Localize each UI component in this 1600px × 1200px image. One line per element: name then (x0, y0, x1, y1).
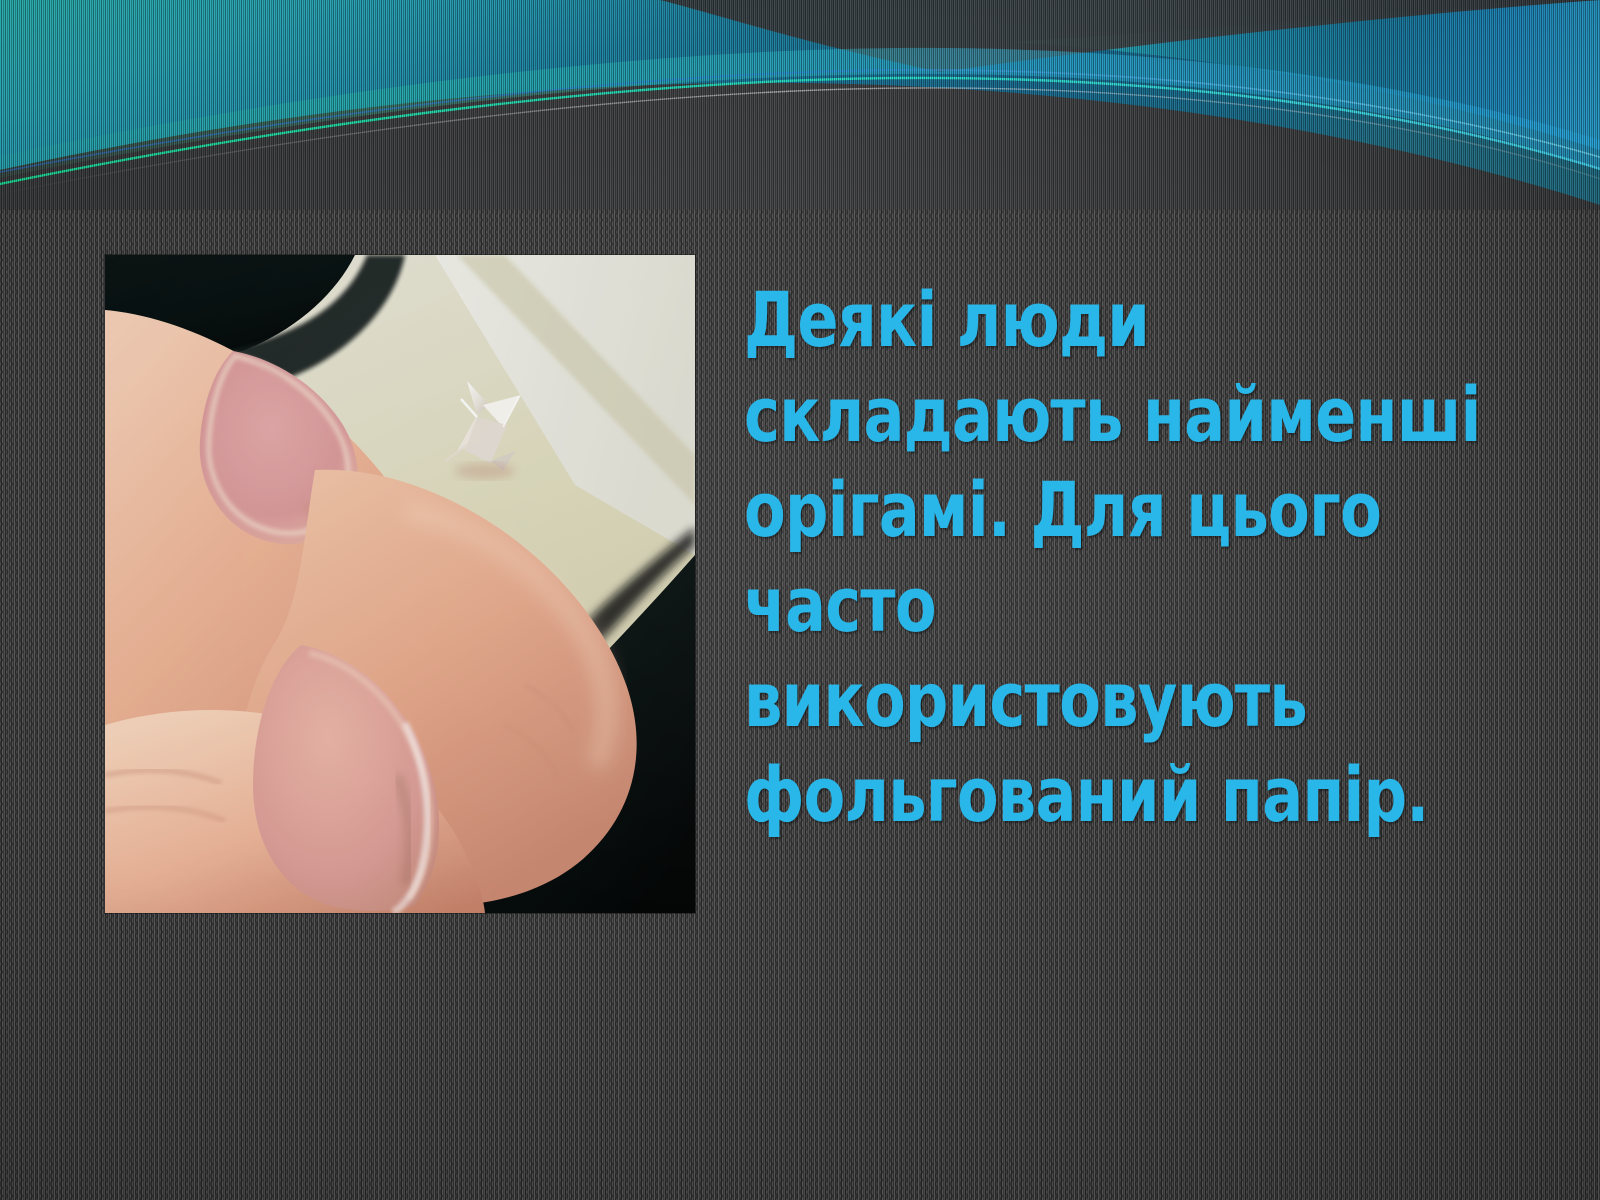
decorative-wave-banner (0, 0, 1600, 210)
body-text-line: використовують (744, 652, 1384, 747)
body-text-line: орігамі. Для цього (744, 462, 1384, 557)
body-text-line: фольгований папір. (744, 747, 1384, 842)
body-text-line: складають найменші (744, 367, 1384, 462)
body-text-line: часто (744, 557, 1384, 652)
body-text-line: Деякі люди (744, 272, 1384, 367)
slide-body-text: Деякі люди складають найменші орігамі. Д… (744, 272, 1544, 842)
presentation-slide: Деякі люди складають найменші орігамі. Д… (0, 0, 1600, 1200)
slide-picture (105, 255, 695, 913)
